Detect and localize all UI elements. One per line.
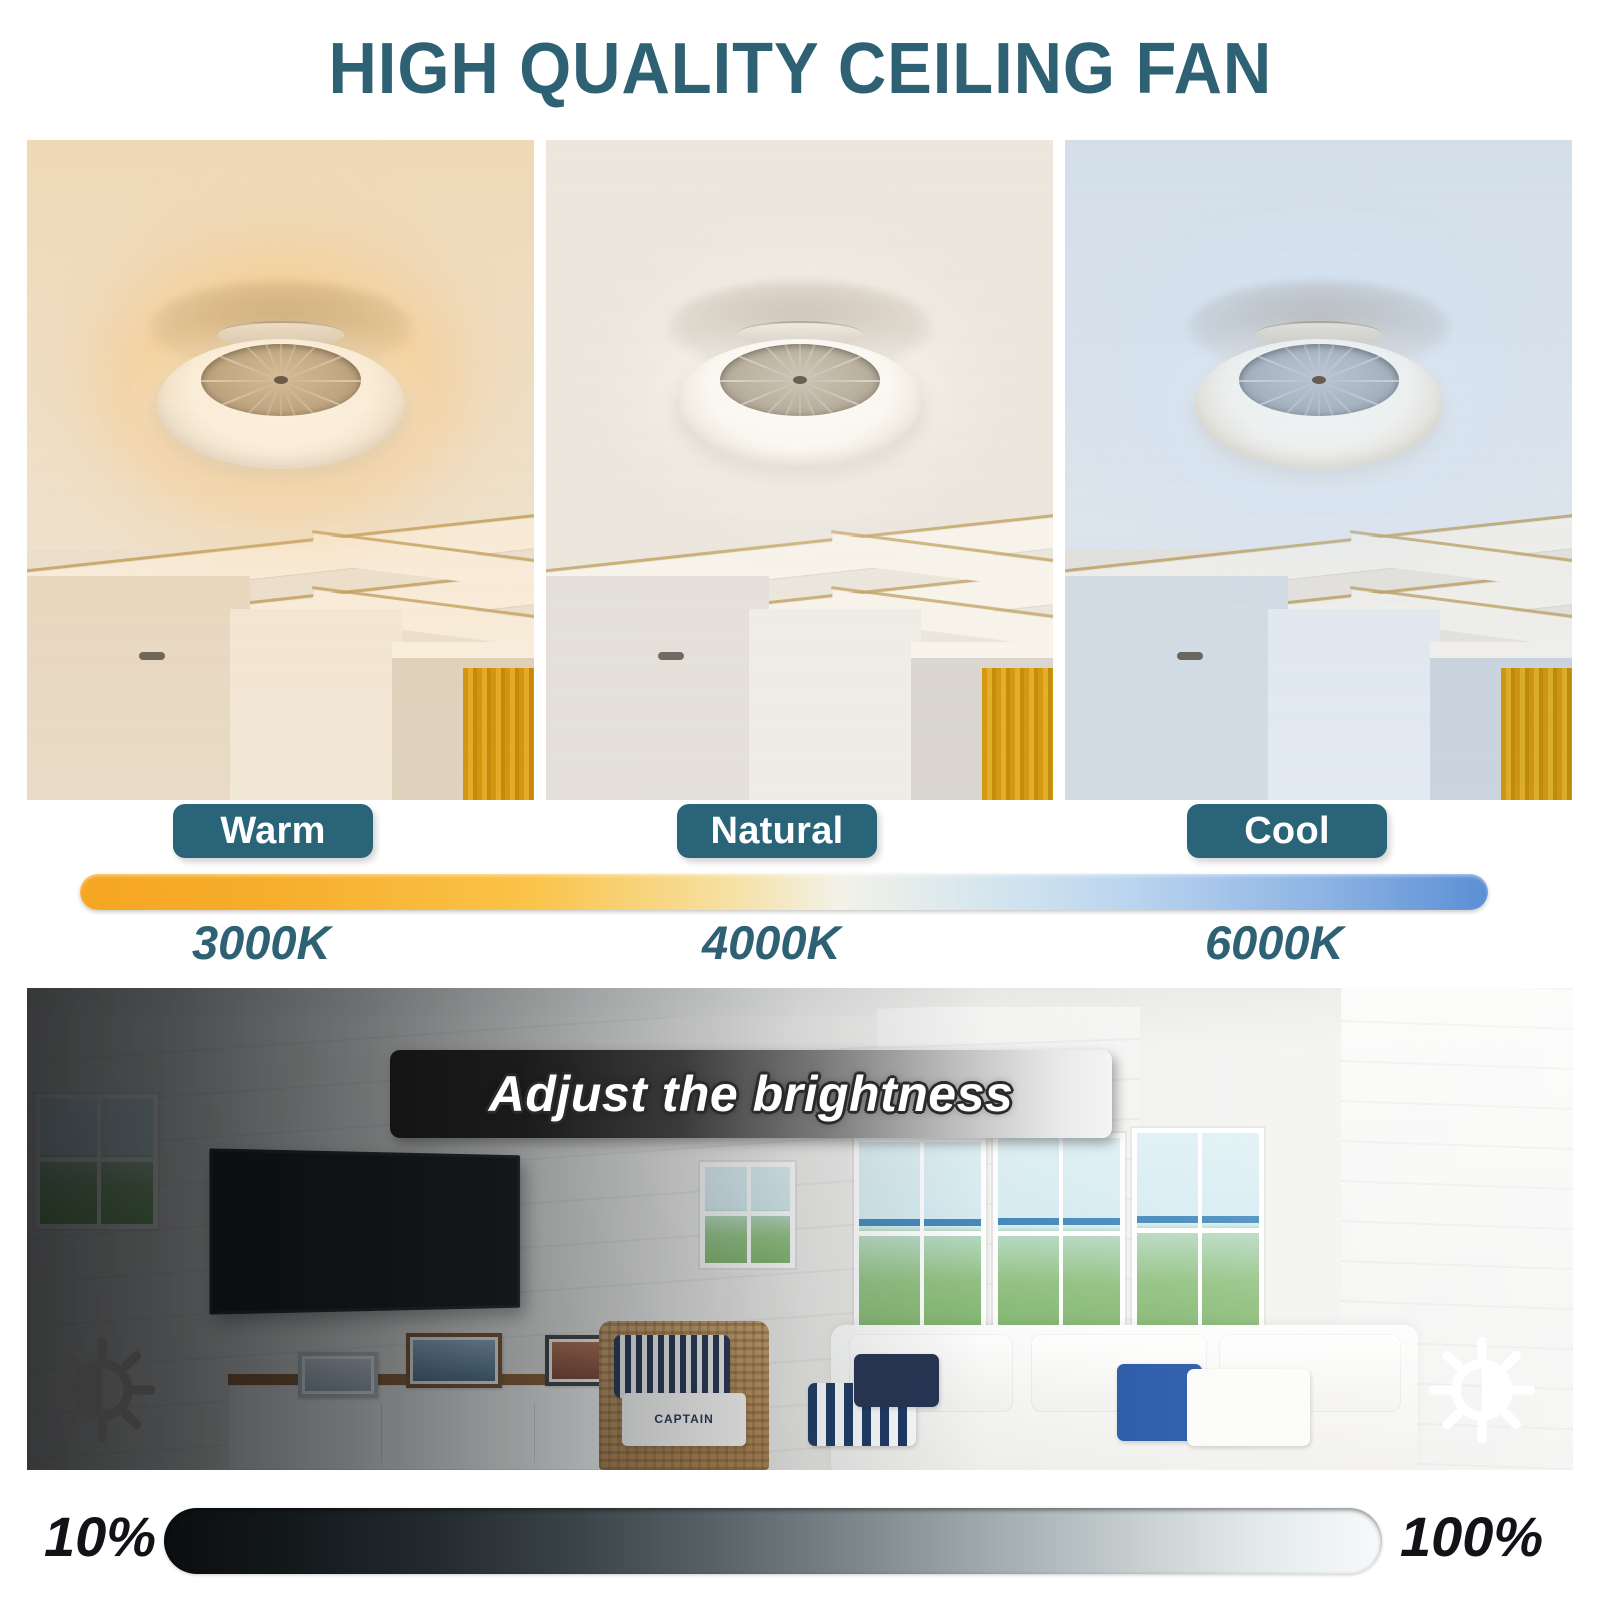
brightness-min-label: 10%	[44, 1504, 156, 1569]
captain-pillow: CAPTAIN	[622, 1393, 746, 1446]
page-title: HIGH QUALITY CEILING FAN	[328, 28, 1272, 110]
cct-badge-natural[interactable]: Natural	[677, 804, 877, 858]
warm-color-tint	[27, 140, 534, 800]
window-left	[35, 1094, 159, 1229]
cct-photo-natural	[546, 140, 1053, 800]
brightness-slider-row: 10% 100%	[0, 1498, 1600, 1590]
cct-badge-cool[interactable]: Cool	[1187, 804, 1387, 858]
natural-color-tint	[546, 140, 1053, 800]
picture-frame	[298, 1352, 378, 1398]
brightness-low-icon	[48, 1336, 156, 1444]
cool-color-tint	[1065, 140, 1572, 800]
pillow-navy	[854, 1354, 939, 1407]
kelvin-label-4000k: 4000K	[702, 915, 841, 970]
kelvin-label-3000k: 3000K	[192, 915, 331, 970]
window-small	[700, 1162, 796, 1268]
cct-badge-warm[interactable]: Warm	[173, 804, 373, 858]
window-bay-2	[993, 1133, 1124, 1345]
cct-photo-warm	[27, 140, 534, 800]
window-bay-3	[1132, 1128, 1263, 1345]
kelvin-label-6000k: 6000K	[1205, 915, 1344, 970]
brightness-slider[interactable]	[164, 1508, 1382, 1574]
picture-frame	[406, 1333, 502, 1388]
chair-pillow-nautical	[614, 1335, 730, 1398]
cct-photo-cool	[1065, 140, 1572, 800]
adjust-brightness-label: Adjust the brightness	[489, 1065, 1013, 1123]
adjust-brightness-banner: Adjust the brightness	[390, 1050, 1112, 1138]
cct-label-row: 3000K 4000K 6000K	[27, 915, 1573, 981]
brightness-high-icon	[1428, 1336, 1536, 1444]
color-temperature-slider[interactable]	[80, 874, 1488, 910]
color-temperature-gallery	[27, 140, 1573, 800]
wall-mounted-tv	[209, 1148, 520, 1314]
page-header: HIGH QUALITY CEILING FAN	[0, 0, 1600, 138]
brightness-max-label: 100%	[1400, 1504, 1543, 1569]
window-bay-1	[854, 1137, 985, 1339]
pillow-white	[1187, 1369, 1311, 1446]
cct-badge-row: Warm Natural Cool	[27, 800, 1573, 862]
